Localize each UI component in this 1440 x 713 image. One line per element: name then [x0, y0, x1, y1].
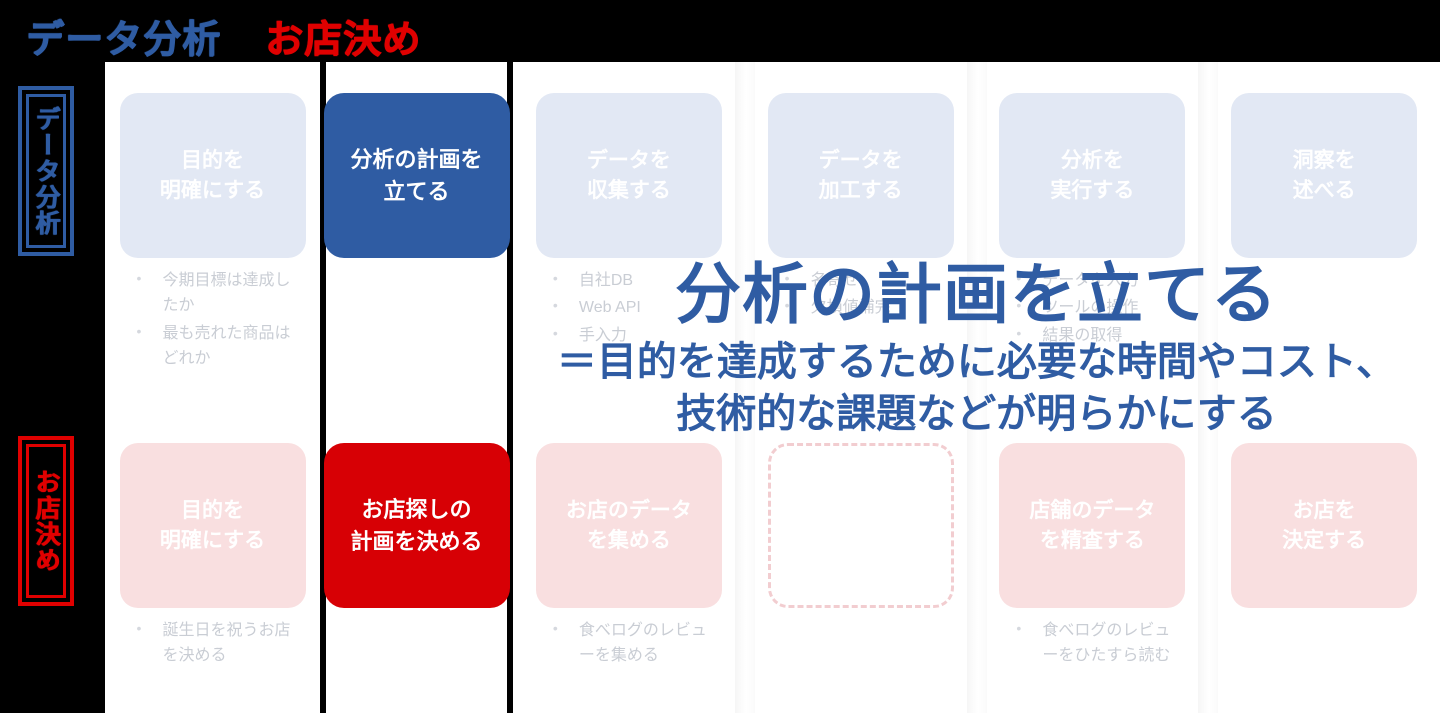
step-card-collect-data[interactable]: データを 収集する: [536, 93, 722, 258]
card-slot-bottom: お店のデータ を集める: [536, 443, 722, 608]
step-column: データを 加工する 名寄せ 欠損値補完: [745, 62, 977, 713]
rail-badge-shop-decision: お店決め: [18, 436, 74, 606]
step-card-plan-analysis[interactable]: 分析の計画を 立てる: [324, 93, 510, 258]
list-item: 食べログのレビューを集める: [541, 618, 717, 669]
panel-step-1: 目的を 明確にする 今期目標は達成したか 最も売れた商品はどれか 目的を 明確に…: [105, 62, 320, 713]
card-slot-top: 分析を 実行する: [999, 93, 1185, 258]
step-card-label: データを 加工する: [819, 146, 903, 206]
list-item: 名寄せ: [773, 268, 949, 293]
bullet-list-bottom: 誕生日を祝うお店を決める: [125, 618, 301, 671]
step-card-label: 洞察を 述べる: [1293, 146, 1356, 206]
card-slot-top: 洞察を 述べる: [1231, 93, 1417, 258]
card-slot-bottom: お店探しの 計画を決める: [324, 443, 510, 608]
rail-badge-label: データ分析: [33, 106, 59, 236]
step-card-empty-placeholder[interactable]: [768, 443, 954, 608]
step-card-label: お店探しの 計画を決める: [350, 494, 482, 556]
step-column-active: 分析の計画を 立てる お店探しの 計画を決める: [326, 62, 507, 713]
step-card-objective-shop[interactable]: 目的を 明確にする: [120, 443, 306, 608]
step-card-label: 店舗のデータ を精査する: [1029, 496, 1155, 556]
step-card-state-insight[interactable]: 洞察を 述べる: [1231, 93, 1417, 258]
rail-badge-data-analysis: データ分析: [18, 86, 74, 256]
step-card-decide-shop[interactable]: お店を 決定する: [1231, 443, 1417, 608]
step-card-execute-analysis[interactable]: 分析を 実行する: [999, 93, 1185, 258]
step-card-inspect-shop-data[interactable]: 店舗のデータ を精査する: [999, 443, 1185, 608]
panel-step-2: 分析の計画を 立てる お店探しの 計画を決める: [326, 62, 507, 713]
step-card-label: 目的を 明確にする: [160, 496, 265, 556]
bullet-list-bottom: 食べログのレビューを集める: [541, 618, 717, 671]
list-item: 自社DB: [541, 268, 717, 293]
step-card-collect-shop-data[interactable]: お店のデータ を集める: [536, 443, 722, 608]
list-item: Web API: [541, 295, 717, 320]
step-card-label: お店のデータ を集める: [566, 496, 692, 556]
legend-item-shop-decision: お店決め: [265, 20, 421, 58]
list-item: ツールの操作: [1004, 295, 1180, 320]
step-column: 分析を 実行する データを入力 ツールの操作 結果の取得 店舗のデータ を精査す…: [977, 62, 1209, 713]
list-item: 食べログのレビューをひたすら読む: [1004, 618, 1180, 669]
step-column: データを 収集する 自社DB Web API 手入力 お店のデータ を集める 食…: [513, 62, 745, 713]
step-column: 目的を 明確にする 今期目標は達成したか 最も売れた商品はどれか 目的を 明確に…: [105, 62, 320, 713]
bullet-list-top: 今期目標は達成したか 最も売れた商品はどれか: [125, 268, 301, 373]
list-item: データを入力: [1004, 268, 1180, 293]
step-card-label: 分析を 実行する: [1050, 146, 1134, 206]
step-card-label: データを 収集する: [587, 146, 671, 206]
card-slot-top: データを 収集する: [536, 93, 722, 258]
list-item: 最も売れた商品はどれか: [125, 321, 301, 372]
card-slot-bottom: 目的を 明確にする: [120, 443, 306, 608]
panel-steps-3-to-6: データを 収集する 自社DB Web API 手入力 お店のデータ を集める 食…: [513, 62, 1440, 713]
step-column: 洞察を 述べる お店を 決定する: [1208, 62, 1440, 713]
list-item: 欠損値補完: [773, 295, 949, 320]
step-card-label: 目的を 明確にする: [160, 146, 265, 206]
list-item: 手入力: [541, 323, 717, 348]
card-slot-top: 目的を 明確にする: [120, 93, 306, 258]
card-slot-bottom: お店を 決定する: [1231, 443, 1417, 608]
bullet-list-bottom: 食べログのレビューをひたすら読む: [1004, 618, 1180, 671]
step-card-objective-analysis[interactable]: 目的を 明確にする: [120, 93, 306, 258]
legend-item-data-analysis: データ分析: [26, 20, 221, 58]
rail-badge-label: お店決め: [33, 469, 59, 573]
card-slot-bottom: [768, 443, 954, 608]
card-slot-bottom: 店舗のデータ を精査する: [999, 443, 1185, 608]
slide-canvas: データ分析 お店決め データ分析 お店決め 目的を 明確にする 今期目標は達成し…: [0, 0, 1440, 713]
card-slot-top: 分析の計画を 立てる: [324, 93, 510, 258]
bullet-list-top: 名寄せ 欠損値補完: [773, 268, 949, 323]
step-card-label: 分析の計画を 立てる: [350, 144, 482, 206]
step-card-plan-shop[interactable]: お店探しの 計画を決める: [324, 443, 510, 608]
list-item: 誕生日を祝うお店を決める: [125, 618, 301, 669]
bullet-list-top: データを入力 ツールの操作 結果の取得: [1004, 268, 1180, 350]
legend-header: データ分析 お店決め: [0, 8, 520, 70]
list-item: 今期目標は達成したか: [125, 268, 301, 319]
list-item: 結果の取得: [1004, 323, 1180, 348]
step-card-process-data[interactable]: データを 加工する: [768, 93, 954, 258]
step-card-label: お店を 決定する: [1282, 496, 1366, 556]
bullet-list-top: 自社DB Web API 手入力: [541, 268, 717, 350]
card-slot-top: データを 加工する: [768, 93, 954, 258]
